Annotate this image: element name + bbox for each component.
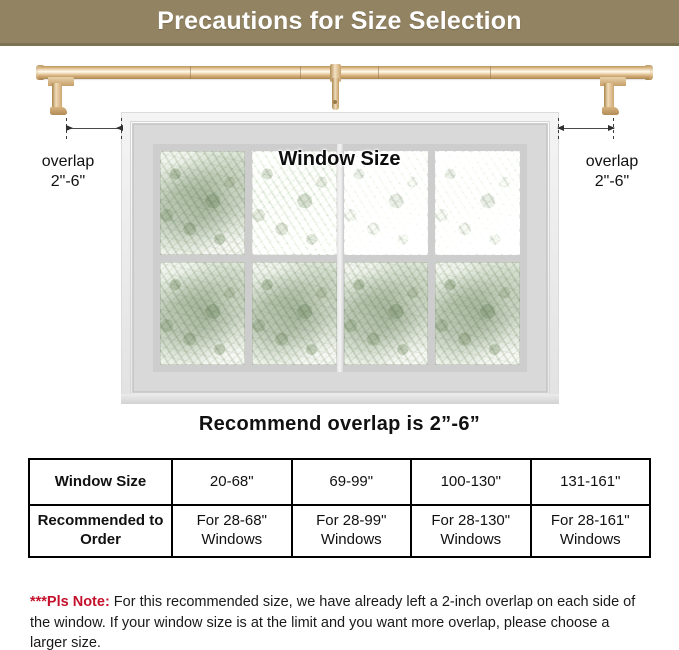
overlap-label-right-line2: 2"-6"	[552, 172, 672, 192]
window-pane	[435, 262, 520, 366]
arrow-left-outer-icon	[66, 125, 73, 131]
curtain-rod-icon	[38, 66, 650, 79]
curtain-rod-illustration	[0, 52, 679, 114]
table-cell: 69-99"	[292, 459, 412, 505]
rod-seam-icon	[378, 66, 379, 79]
arrow-right-inner-icon	[557, 125, 564, 131]
overlap-label-left-line2: 2"-6"	[8, 172, 128, 192]
header-banner: Precautions for Size Selection	[0, 0, 679, 46]
window-size-label: Window Size	[0, 148, 679, 171]
window-pane	[252, 262, 337, 366]
table-cell: For 28-130" Windows	[411, 505, 531, 557]
table-row-header: Recommended to Order	[29, 505, 172, 557]
bracket-foot	[602, 107, 619, 115]
table-cell: For 28-99" Windows	[292, 505, 412, 557]
window-sash-meeting-rail	[337, 144, 343, 372]
table-row: Recommended to Order For 28-68" Windows …	[29, 505, 650, 557]
recommend-overlap-text: Recommend overlap is 2”-6”	[0, 413, 679, 436]
footer-note: ***Pls Note: For this recommended size, …	[30, 592, 650, 650]
table-cell: For 28-161" Windows	[531, 505, 651, 557]
bracket-foot	[50, 107, 67, 115]
window-pane	[160, 262, 245, 366]
note-body: For this recommended size, we have alrea…	[30, 594, 635, 650]
window-sill	[121, 394, 559, 404]
note-flag: ***Pls Note:	[30, 594, 110, 610]
window-pane	[344, 262, 429, 366]
bracket-screw-icon	[333, 100, 337, 104]
rod-seam-icon	[190, 66, 191, 79]
arrow-left-inner-icon	[116, 125, 123, 131]
size-recommendation-table: Window Size 20-68" 69-99" 100-130" 131-1…	[28, 458, 651, 558]
table-row-header: Window Size	[29, 459, 172, 505]
dimension-line-left	[66, 128, 122, 129]
table-row: Window Size 20-68" 69-99" 100-130" 131-1…	[29, 459, 650, 505]
rod-seam-icon	[490, 66, 491, 79]
curtain-bracket-center-icon	[330, 64, 341, 110]
page-title: Precautions for Size Selection	[157, 7, 521, 36]
table-cell: For 28-68" Windows	[172, 505, 292, 557]
bracket-stem	[332, 78, 339, 110]
table-cell: 100-130"	[411, 459, 531, 505]
dimension-line-right	[558, 128, 614, 129]
table-cell: 20-68"	[172, 459, 292, 505]
rod-seam-icon	[300, 66, 301, 79]
size-guide-page: Precautions for Size Selection	[0, 0, 679, 650]
arrow-right-outer-icon	[608, 125, 615, 131]
table-cell: 131-161"	[531, 459, 651, 505]
